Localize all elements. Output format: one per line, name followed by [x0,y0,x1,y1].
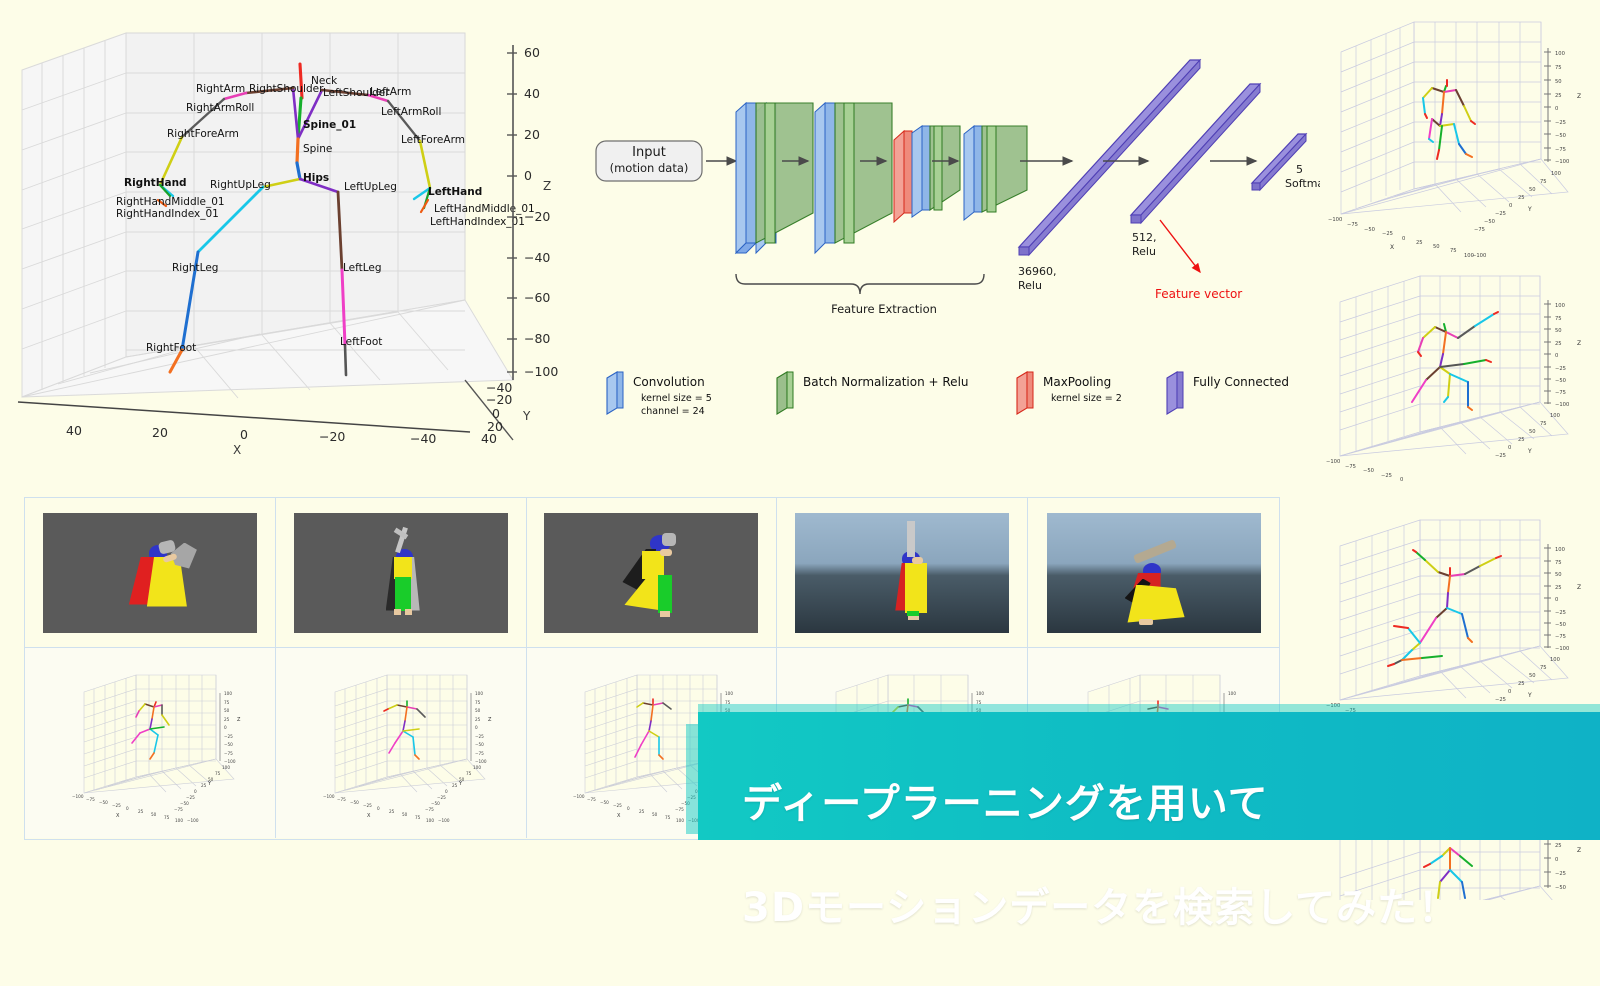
mini-z-tick: 75 [1555,560,1562,566]
mini-z-tick: 0 [224,725,227,730]
mini-z-tick: 100 [976,691,984,696]
mini-y-tick: 100 [1550,657,1560,663]
mini-z-tick: 50 [224,708,230,713]
x-tick: −40 [410,431,436,446]
mini-y-axis-label: Y [1527,206,1532,213]
video-thumbnail[interactable] [294,513,508,633]
plot-cell: 100 75 50 25 0 −25 −50 −75 −100 Z −100 −… [276,648,527,838]
video-thumbnail[interactable] [544,513,758,633]
mini-x-tick: 0 [627,806,630,811]
mini-x-tick: −75 [86,797,95,802]
legend-label: Batch Normalization + Relu [803,375,969,389]
y-axis-label: Y [522,409,531,423]
mini-y-tick: 50 [1529,187,1536,193]
mini-z-tick: 50 [1555,572,1562,578]
mini-y-tick: 25 [1518,437,1525,443]
mini-z-tick: 100 [1555,547,1565,553]
mini-y-tick: −25 [437,795,446,800]
mini-z-tick: −25 [1555,366,1566,372]
mini-x-tick: −50 [1364,227,1375,233]
z-tick: −80 [524,331,550,346]
mini-z-tick: −25 [224,734,233,739]
video-cell[interactable] [777,498,1028,648]
video-cell[interactable] [527,498,778,648]
mini-y-tick: 50 [1529,429,1536,435]
bone-label: RightShoulder [249,83,324,95]
bone-label: RightArm [196,83,245,95]
bone-label: RightHand [124,177,187,189]
mini-x-tick: −75 [1347,222,1358,228]
mini-y-tick: 75 [215,771,221,776]
mini-y-tick: 25 [1518,195,1525,201]
mini-x-tick: 50 [652,812,658,817]
bone-label: RightLeg [172,262,218,274]
mini-y-axis-label: Y [1527,692,1532,699]
mini-x-tick: 75 [415,815,421,820]
input-subtitle: (motion data) [610,161,689,175]
mini-x-tick: 75 [164,815,170,820]
mini-z-tick: 0 [1555,597,1558,603]
mini-x-tick: −50 [600,800,609,805]
bone-label: LeftArm [370,86,411,98]
feature-vector-arrow [1160,220,1200,272]
mini-x-tick: −100 [323,794,335,799]
mini-z-tick: −25 [1555,120,1566,126]
mini-z-tick: 50 [1555,328,1562,334]
mini-z-tick: 75 [224,700,230,705]
mini-x-axis-label: X [617,813,621,819]
mini-y-tick: 100 [222,765,230,770]
mini-y-tick: 75 [1540,665,1547,671]
mini-x-tick: −100 [72,794,84,799]
mini-z-tick: −25 [1555,871,1566,877]
result-skeleton-plot-2: 100 75 50 25 0 −25 −50 −75 −100 Z −100 −… [1290,272,1595,487]
fc1-size-label: 36960, [1018,265,1057,278]
conv-block-4 [964,126,1027,220]
z-tick: 20 [524,127,540,142]
mini-y-tick: −100 [1472,253,1486,259]
bone-label: Spine_01 [303,119,356,131]
video-cell[interactable] [276,498,527,648]
bone-label: LeftArmRoll [381,106,441,118]
mini-x-tick: −100 [573,794,585,799]
mini-z-tick: 100 [1555,303,1565,309]
x-axis-label: X [233,443,241,457]
mini-x-axis-label: X [367,813,371,819]
mini-z-tick: −75 [1555,634,1566,640]
network-architecture-diagram: Input (motion data) [560,30,1320,380]
mini-z-tick: −50 [1555,133,1566,139]
mini-z-tick: 25 [475,717,481,722]
mini-x-tick: 0 [1400,477,1403,483]
title-banner: ディープラーニングを用いて 3Dモーションデータを検索してみた！ [698,712,1600,840]
mini-y-tick: 0 [445,789,448,794]
legend-label: Fully Connected [1193,375,1289,389]
mini-x-tick: −25 [1381,473,1392,479]
fc2-activation-label: Relu [1132,245,1156,258]
mini-y-axis-label: Y [1527,448,1532,455]
x-tick: 20 [152,425,168,440]
mini-y-tick: 100 [473,765,481,770]
mini-y-tick: −25 [1495,211,1506,217]
mini-z-tick: −50 [1555,378,1566,384]
mini-z-tick: 25 [1555,341,1562,347]
mini-x-tick: 50 [402,812,408,817]
legend-sub1: kernel size = 5 [641,393,712,404]
gallery-skeleton-plot: 100 75 50 25 0 −25 −50 −75 −100 Z −100 −… [44,659,256,827]
mini-x-tick: 0 [126,806,129,811]
mini-y-tick: −75 [174,807,183,812]
bone-label: RightHandMiddle_01 [116,196,225,208]
pool-conv-block-3 [894,126,960,222]
mini-x-tick: −25 [112,803,121,808]
bone-label: LeftHand [428,186,482,198]
z-tick: −60 [524,290,550,305]
y-axis: −40 −20 0 20 40 Y [465,380,531,446]
mini-x-axis-label: X [1390,244,1394,251]
mini-z-tick: −50 [1555,885,1566,891]
legend-label: Convolution [633,375,705,389]
mini-z-tick: −50 [1555,622,1566,628]
mini-z-tick: 25 [1555,585,1562,591]
mini-z-axis-label: Z [1577,93,1581,100]
y-tick: 40 [481,431,497,446]
legend-item-batchnorm: Batch Normalization + Relu [777,372,969,414]
bone-label: RightHandIndex_01 [116,208,219,220]
conv-block-1 [736,103,813,253]
mini-x-tick: −25 [1382,231,1393,237]
mini-y-tick: −25 [1495,453,1506,459]
mini-y-tick: 100 [1551,171,1561,177]
fully-connected-1 [1019,60,1200,255]
bone-label: RightArmRoll [186,102,254,114]
mini-y-tick: −25 [1495,697,1506,703]
mini-z-tick: −100 [224,759,236,764]
mini-z-tick: 100 [725,691,733,696]
mini-z-tick: 50 [475,708,481,713]
video-thumbnail[interactable] [43,513,257,633]
fc2-size-label: 512, [1132,231,1157,244]
mini-x-tick: 25 [138,809,144,814]
mini-x-tick: −75 [587,797,596,802]
mini-y-tick: 75 [466,771,472,776]
bone-label: LeftFoot [340,336,382,348]
mini-x-tick: 0 [1402,236,1405,242]
mini-x-axis-label: X [116,813,120,819]
mini-z-tick: 0 [1555,857,1558,863]
mini-y-tick: 25 [201,783,207,788]
mini-y-tick: 0 [194,789,197,794]
mini-x-tick: 50 [1433,244,1440,250]
banner-line-2: 3Dモーションデータを検索してみた！ [742,882,1459,934]
z-tick: 40 [524,86,540,101]
mini-x-tick: 0 [377,806,380,811]
mini-z-axis-label: Z [1577,584,1581,591]
bone-label: RightForeArm [167,128,239,140]
legend-item-fully-connected: Fully Connected [1167,372,1289,414]
mini-x-tick: 100 [676,818,684,823]
x-tick: −20 [319,429,345,444]
mini-z-tick: −100 [475,759,487,764]
mini-x-tick: 25 [389,809,395,814]
bone-label: Spine [303,143,332,155]
mini-y-tick: 0 [1508,445,1511,451]
z-tick: 60 [524,45,540,60]
mini-y-tick: −100 [438,818,450,823]
mini-x-tick: 25 [1416,240,1423,246]
bone-label: LeftHandMiddle_01 [434,203,535,215]
bone-label: LeftLeg [343,262,382,274]
mini-z-tick: 50 [1555,79,1562,85]
mini-z-axis-label: Z [1577,340,1581,347]
mini-y-tick: 75 [1540,421,1547,427]
mini-z-tick: 100 [1228,691,1236,696]
mini-x-tick: 100 [175,818,183,823]
feature-extraction-label: Feature Extraction [831,302,937,316]
legend-sub2: channel = 24 [641,406,705,417]
bone-label: LeftHandIndex_01 [430,216,525,228]
mini-x-tick: −75 [1345,464,1356,470]
mini-x-tick: −25 [613,803,622,808]
result-skeleton-plot-3: 100 75 50 25 0 −25 −50 −75 −100 Z −100 −… [1290,498,1595,723]
mini-z-tick: 75 [475,700,481,705]
z-tick: −40 [524,250,550,265]
mini-z-axis-label: Z [488,717,492,723]
mini-y-tick: −75 [1474,227,1485,233]
main-skeleton-plot: Neck RightArm RightShoulder LeftShoulder… [0,0,600,470]
mini-y-tick: −50 [431,801,440,806]
mini-y-tick: 25 [452,783,458,788]
mini-x-tick: −50 [99,800,108,805]
mini-z-tick: 0 [1555,106,1558,112]
feature-vector-label: Feature vector [1155,287,1242,301]
mini-z-tick: 75 [1555,316,1562,322]
mini-x-tick: −50 [1363,468,1374,474]
conv-block-2 [815,103,892,253]
mini-y-tick: 0 [1508,689,1511,695]
video-thumbnail[interactable] [795,513,1009,633]
mini-z-tick: 100 [475,691,483,696]
mini-z-tick: 25 [224,717,230,722]
mini-z-tick: 100 [1555,51,1565,57]
input-box: Input (motion data) [596,141,702,181]
input-title: Input [632,145,666,160]
mini-y-tick: −50 [1484,219,1495,225]
mini-z-tick: 25 [1555,93,1562,99]
video-cell[interactable] [1028,498,1279,648]
mini-z-tick: 0 [475,725,478,730]
mini-z-tick: −75 [1555,147,1566,153]
x-tick: 40 [66,423,82,438]
z-tick: −20 [524,209,550,224]
mini-z-tick: −100 [1555,646,1569,652]
x-tick: 0 [240,427,248,442]
mini-y-tick: −75 [675,807,684,812]
bone-label: LeftUpLeg [344,181,397,193]
mini-y-tick: −50 [180,801,189,806]
mini-z-tick: 100 [224,691,232,696]
mini-z-tick: −50 [224,742,233,747]
video-thumbnail[interactable] [1047,513,1261,633]
mini-x-tick: −75 [337,797,346,802]
mini-y-tick: −25 [186,795,195,800]
feature-extraction-brace [736,274,984,294]
network-legend: Convolution kernel size = 5 channel = 24… [595,366,1295,430]
z-tick: −100 [524,364,558,379]
bone-label: Hips [303,172,329,184]
mini-z-tick: −100 [1555,159,1569,165]
y-tick: −20 [486,392,512,407]
mini-z-tick: −75 [224,751,233,756]
mini-x-tick: 75 [1450,248,1457,254]
mini-z-tick: 0 [1555,353,1558,359]
mini-x-tick: 50 [151,812,157,817]
result-skeleton-plot-1: 100 75 50 25 0 −25 −50 −75 −100 Z −100 −… [1296,14,1596,264]
mini-y-tick: 0 [1509,203,1512,209]
mini-y-tick: 100 [1550,413,1560,419]
mini-x-tick: 25 [639,809,645,814]
banner-title: ディープラーニングを用いて 3Dモーションデータを検索してみた！ [742,726,1459,986]
mini-z-tick: −25 [1555,610,1566,616]
banner-line-1: ディープラーニングを用いて [742,778,1459,830]
mini-z-tick: −100 [1555,402,1569,408]
mini-x-tick: −50 [350,800,359,805]
mini-y-tick: 25 [1518,681,1525,687]
z-axis-label: Z [543,179,551,193]
z-tick: 0 [524,168,532,183]
legend-item-maxpooling: MaxPooling kernel size = 2 [1017,372,1122,414]
mini-y-tick: 50 [1529,673,1536,679]
mini-y-tick: 75 [1540,179,1547,185]
mini-y-tick: −100 [187,818,199,823]
mini-x-tick: −100 [1326,459,1340,465]
gallery-skeleton-plot: 100 75 50 25 0 −25 −50 −75 −100 Z −100 −… [295,659,507,827]
bone-label: LeftForeArm [401,134,465,146]
mini-x-tick: 100 [426,818,434,823]
mini-x-tick: −25 [363,803,372,808]
mini-z-tick: −25 [475,734,484,739]
mini-x-tick: −100 [1328,217,1342,223]
fc1-activation-label: Relu [1018,279,1042,292]
mini-x-tick: 75 [665,815,671,820]
plot-cell: 100 75 50 25 0 −25 −50 −75 −100 Z −100 −… [25,648,276,838]
mini-z-tick: −50 [475,742,484,747]
bone-label: RightFoot [146,342,196,354]
legend-item-convolution: Convolution kernel size = 5 channel = 24 [607,372,712,417]
bone-label: RightUpLeg [210,179,271,191]
mini-y-tick: −75 [425,807,434,812]
mini-z-tick: −75 [1555,390,1566,396]
mini-z-tick: −75 [475,751,484,756]
mini-z-axis-label: Z [1577,847,1581,854]
mini-z-axis-label: Z [237,717,241,723]
mini-z-tick: 75 [1555,65,1562,71]
legend-label: MaxPooling [1043,375,1111,389]
legend-sub1: kernel size = 2 [1051,393,1122,404]
mini-z-tick: 25 [1555,843,1562,849]
video-cell[interactable] [25,498,276,648]
